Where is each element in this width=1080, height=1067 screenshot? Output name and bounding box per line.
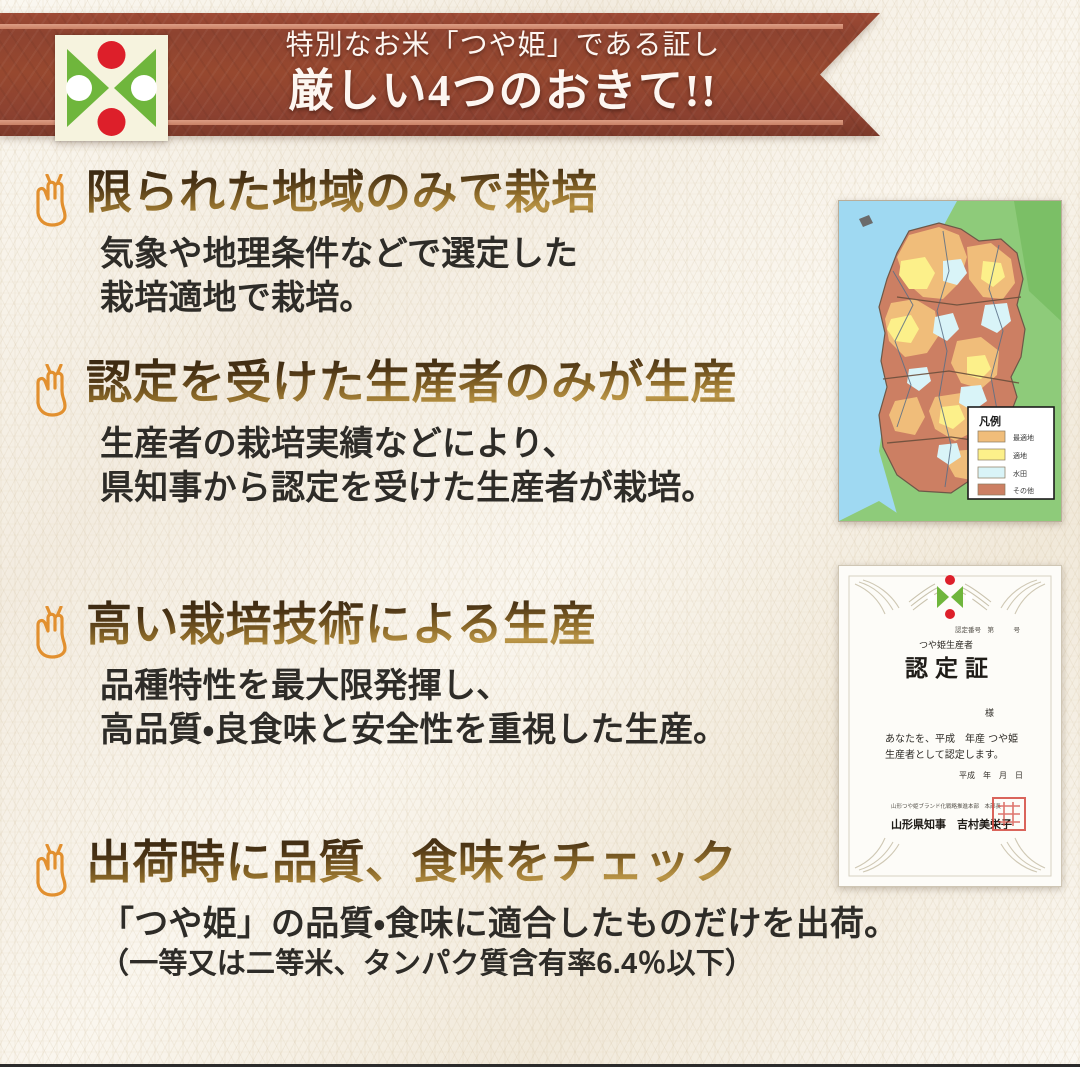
banner-title: 厳しい4つのおきて!! [193,65,813,118]
certificate-issuer-org: 山形つや姫ブランド化戦略推進本部 本部長 [839,886,840,887]
rule-4-note: （一等又は二等米、タンパク質含有率6.4％以下） [100,946,898,982]
rule-3-title: 高い栽培技術による生産 [86,600,596,650]
svg-text:生産者として認定します。: 生産者として認定します。 [885,748,1004,761]
infographic-page: 特別なお米「つや姫」である証し 厳しい4つのおきて!! 限られた地域のみで栽培 … [0,0,1080,1067]
svg-text:つや姫生産者: つや姫生産者 [919,639,973,651]
pointing-hand-icon [30,364,80,418]
rule-item-2: 認定を受けた生産者のみが生産 生産者の栽培実績などにより、 県知事から認定を受け… [30,358,737,510]
banner-title-group: 特別なお米「つや姫」である証し 厳しい4つのおきて!! [193,29,813,118]
map-legend-item-2: 適地 [839,521,840,522]
svg-text:適地: 適地 [1013,451,1027,460]
rule-1-title: 限られた地域のみで栽培 [86,168,598,218]
rule-1-body-line-2: 栽培適地で栽培。 [100,276,598,320]
map-legend-item-4: その他 [839,521,840,522]
tsuyahime-logo [55,35,168,141]
rule-2-body: 生産者の栽培実績などにより、 県知事から認定を受けた生産者が栽培。 [100,422,737,510]
rule-4-heading-row: 出荷時に品質、食味をチェック [30,838,898,898]
svg-text:その他: その他 [1013,486,1034,495]
pointing-hand-icon [30,174,80,228]
rule-3-body: 品種特性を最大限発揮し、 高品質・良食味と安全性を重視した生産。 [100,664,727,752]
certificate-issuer-name: 山形県知事 吉村美栄子 [839,886,840,887]
svg-text:あなたを、平成 年産 つや姫: あなたを、平成 年産 つや姫 [885,732,1018,745]
certificate-number: 認定番号 第 号 [839,886,840,887]
svg-text:凡例: 凡例 [979,414,1001,428]
svg-text:様: 様 [985,707,994,719]
rule-4-title: 出荷時に品質、食味をチェック [86,838,737,888]
certificate-body-line-2: 生産者として認定します。 [839,886,840,887]
certificate-subtitle: つや姫生産者 [839,886,840,887]
svg-text:平成 年 月 日: 平成 年 月 日 [959,770,1023,780]
banner-subtitle: 特別なお米「つや姫」である証し [193,29,813,63]
header-ribbon-banner: 特別なお米「つや姫」である証し 厳しい4つのおきて!! [0,13,880,136]
rule-item-1: 限られた地域のみで栽培 気象や地理条件などで選定した 栽培適地で栽培。 [30,168,598,320]
svg-text:水田: 水田 [1013,469,1027,478]
tsuyahime-producer-certificate: 認定番号 第 号 つや姫生産者 認定証 様 あなたを、平成 年産 つや姫 生産者… [838,565,1062,887]
rule-3-heading-row: 高い栽培技術による生産 [30,600,727,660]
pointing-hand-icon [30,606,80,660]
rule-1-heading-row: 限られた地域のみで栽培 [30,168,598,228]
svg-text:認定番号 第 号: 認定番号 第 号 [955,625,1021,634]
map-legend-item-1: 最適地 [839,521,840,522]
map-legend-title: 凡例 [839,521,840,522]
svg-text:山形つや姫ブランド化戦略推進本部 本部長: 山形つや姫ブランド化戦略推進本部 本部長 [891,802,1002,810]
map-legend-item-3: 水田 [839,521,840,522]
rule-2-body-line-1: 生産者の栽培実績などにより、 [100,422,737,466]
pointing-hand-icon [30,844,80,898]
rule-item-3: 高い栽培技術による生産 品種特性を最大限発揮し、 高品質・良食味と安全性を重視し… [30,600,727,752]
rule-2-body-line-2: 県知事から認定を受けた生産者が栽培。 [100,466,737,510]
rule-2-title: 認定を受けた生産者のみが生産 [86,358,737,408]
certificate-body-line-1: あなたを、平成 年産 つや姫 [839,886,840,887]
rule-1-body: 気象や地理条件などで選定した 栽培適地で栽培。 [100,232,598,320]
rule-item-4: 出荷時に品質、食味をチェック 「つや姫」の品質・食味に適合したものだけを出荷。 … [30,838,898,982]
rule-3-body-line-2: 高品質・良食味と安全性を重視した生産。 [100,708,727,752]
certificate-title: 認定証 [839,886,840,887]
rule-4-body-line-1: 「つや姫」の品質・食味に適合したものだけを出荷。 [100,902,898,946]
rule-2-heading-row: 認定を受けた生産者のみが生産 [30,358,737,418]
svg-text:認定証: 認定証 [905,655,995,682]
rule-3-body-line-1: 品種特性を最大限発揮し、 [100,664,727,708]
svg-text:最適地: 最適地 [1013,433,1034,442]
rule-1-body-line-1: 気象や地理条件などで選定した [100,232,598,276]
rule-4-body: 「つや姫」の品質・食味に適合したものだけを出荷。 [100,902,898,946]
certificate-date: 平成 年 月 日 [839,886,840,887]
yamagata-cultivation-area-map: 凡例 最適地 適地 水田 その他 凡例 最適地 適地 水田 その他 [838,200,1062,522]
